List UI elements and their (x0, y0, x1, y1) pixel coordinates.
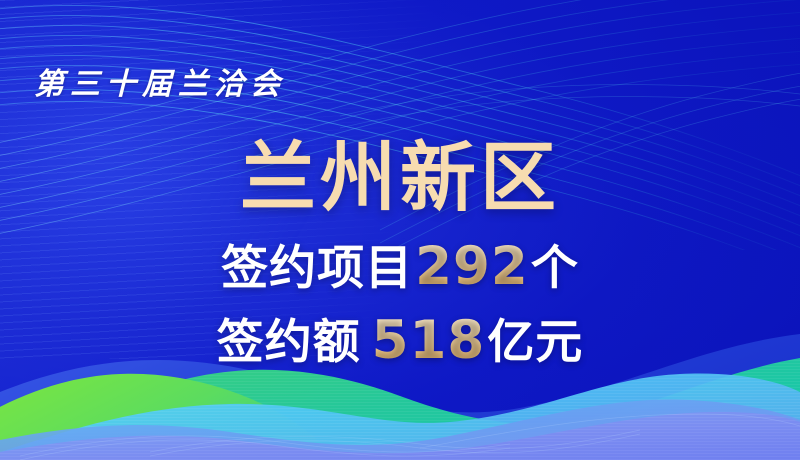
promo-banner: 第三十届兰洽会 兰州新区 签约项目292个 签约额518亿元 (0, 0, 800, 460)
bottom-wave-decoration (0, 0, 800, 460)
